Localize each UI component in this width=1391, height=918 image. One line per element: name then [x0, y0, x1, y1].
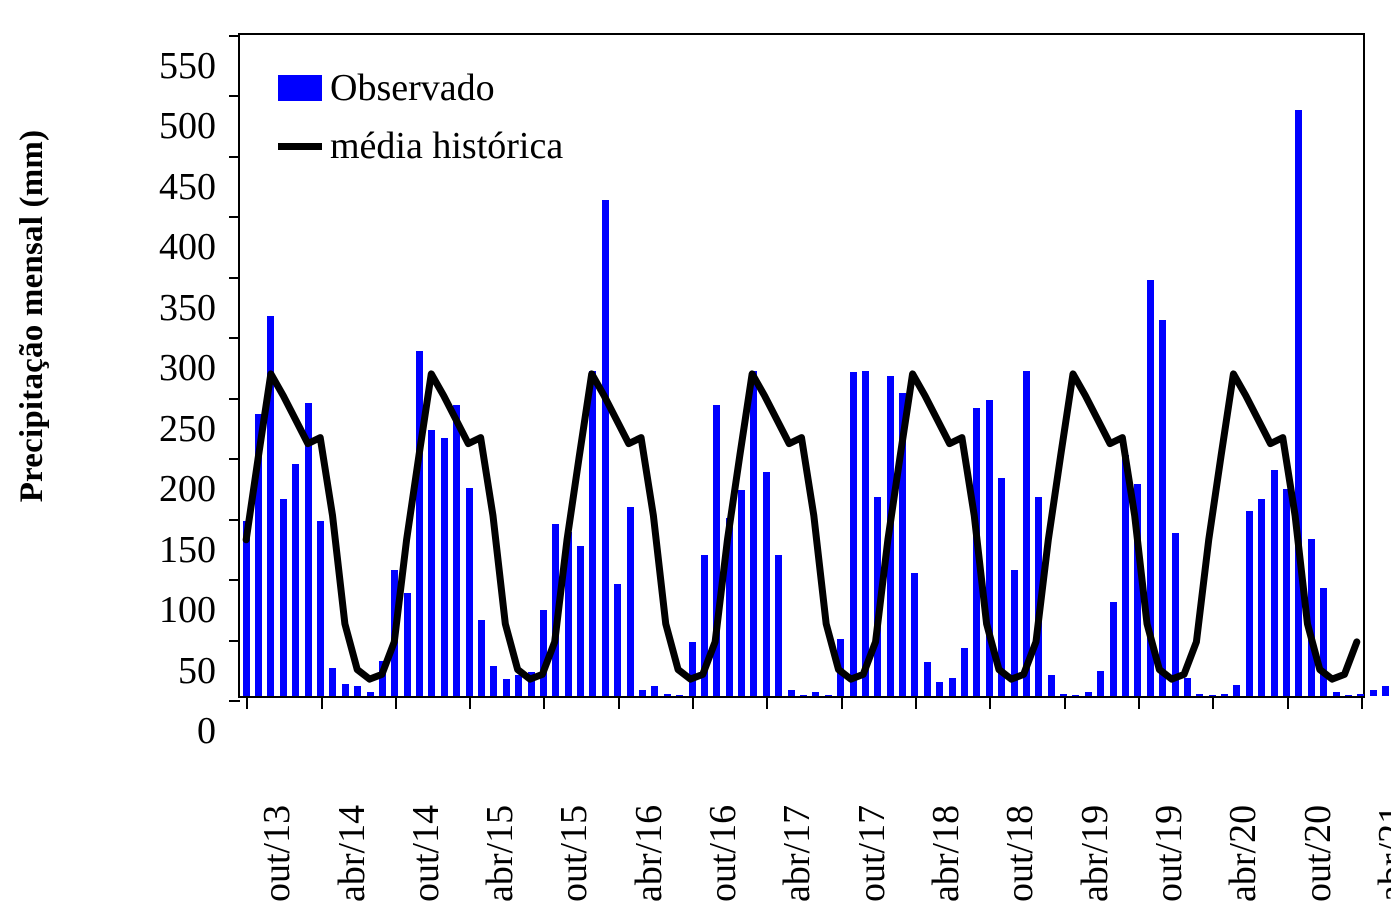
- x-axis-tick: [1064, 696, 1066, 709]
- bar: [317, 521, 324, 696]
- x-axis-tick-label: out/17: [853, 805, 891, 902]
- x-axis-tick-label: abr/21: [1373, 805, 1391, 902]
- bar: [490, 666, 497, 696]
- bar: [788, 690, 795, 696]
- bar: [1172, 533, 1179, 696]
- x-axis-tick: [1361, 696, 1363, 709]
- x-axis-tick: [469, 696, 471, 709]
- x-axis-tick-label: abr/14: [333, 805, 371, 902]
- y-axis-tick-label: 100: [159, 591, 216, 629]
- bar: [874, 497, 881, 697]
- bar: [664, 694, 671, 696]
- bar: [651, 686, 658, 696]
- bar: [478, 620, 485, 696]
- bar: [1271, 470, 1278, 696]
- y-axis-tick: [229, 95, 240, 97]
- bar: [1196, 694, 1203, 696]
- bar: [689, 642, 696, 696]
- x-axis-tick-label: abr/19: [1076, 805, 1114, 902]
- bar: [565, 532, 572, 696]
- bar: [986, 400, 993, 696]
- bar: [243, 521, 250, 696]
- bar: [416, 351, 423, 696]
- legend-label-observado: Observado: [330, 69, 495, 107]
- x-axis-tick: [321, 696, 323, 709]
- y-axis-tick-label: 450: [159, 168, 216, 206]
- bar: [305, 403, 312, 696]
- x-axis-tick-label: out/18: [1001, 805, 1039, 902]
- bar: [627, 507, 634, 696]
- bar: [1258, 499, 1265, 696]
- y-axis-tick: [229, 700, 240, 702]
- x-axis-tick: [1287, 696, 1289, 709]
- x-axis-tick-label: abr/15: [481, 805, 519, 902]
- bar: [602, 200, 609, 696]
- y-axis-tick: [229, 640, 240, 642]
- x-axis-tick: [618, 696, 620, 709]
- bar: [738, 490, 745, 696]
- x-axis-tick-label: out/16: [704, 805, 742, 902]
- bar: [1320, 588, 1327, 696]
- y-axis-tick-label: 300: [159, 349, 216, 387]
- bar: [639, 690, 646, 696]
- legend-item-media-historica: média histórica: [278, 117, 698, 175]
- bar: [404, 593, 411, 696]
- bar: [1048, 675, 1055, 696]
- precipitation-chart: Precipitação mensal (mm) 050100150200250…: [0, 0, 1391, 918]
- bar: [911, 573, 918, 696]
- x-axis-tick-label: out/15: [555, 805, 593, 902]
- bar: [1283, 489, 1290, 696]
- bar: [1134, 484, 1141, 696]
- y-axis-tick: [229, 35, 240, 37]
- bar: [1122, 455, 1129, 696]
- bar: [280, 499, 287, 696]
- bar: [949, 678, 956, 696]
- x-axis-tick-labels: out/13abr/14out/14abr/15out/15abr/16out/…: [238, 712, 1365, 918]
- y-axis-tick: [229, 337, 240, 339]
- x-axis-tick-label: abr/20: [1224, 805, 1262, 902]
- bar: [726, 518, 733, 696]
- bar: [1023, 371, 1030, 696]
- x-axis-tick: [989, 696, 991, 709]
- y-axis-tick: [229, 458, 240, 460]
- bar: [292, 464, 299, 696]
- bar: [713, 405, 720, 696]
- bar: [961, 648, 968, 696]
- y-axis-tick: [229, 519, 240, 521]
- bar: [255, 414, 262, 696]
- bar: [453, 405, 460, 696]
- bar: [1333, 692, 1340, 696]
- bar: [1233, 685, 1240, 696]
- x-axis-tick-label: out/19: [1150, 805, 1188, 902]
- bar: [775, 555, 782, 696]
- x-axis-tick: [915, 696, 917, 709]
- legend: Observado média histórica: [278, 59, 698, 175]
- x-axis-tick: [395, 696, 397, 709]
- x-axis-tick-label: out/14: [407, 805, 445, 902]
- bar: [1295, 110, 1302, 696]
- plot-area: Observado média histórica: [238, 33, 1365, 698]
- bar: [614, 584, 621, 696]
- bar: [1345, 695, 1352, 696]
- bar: [701, 555, 708, 696]
- bar: [1147, 280, 1154, 696]
- bar: [862, 371, 869, 696]
- bar: [1110, 602, 1117, 696]
- x-axis-tick-label: abr/17: [778, 805, 816, 902]
- x-axis-tick: [766, 696, 768, 709]
- bar: [515, 675, 522, 696]
- bar: [441, 438, 448, 696]
- y-axis-tick: [229, 156, 240, 158]
- y-axis-tick-label: 0: [197, 712, 216, 750]
- bar: [1097, 671, 1104, 696]
- x-axis-tick: [1138, 696, 1140, 709]
- bar: [763, 472, 770, 696]
- x-axis-tick-label: abr/16: [630, 805, 668, 902]
- bar: [342, 684, 349, 696]
- bar: [540, 610, 547, 696]
- bar: [924, 662, 931, 696]
- bar: [850, 372, 857, 696]
- bar: [391, 570, 398, 696]
- bar: [329, 668, 336, 696]
- y-axis-tick-label: 50: [178, 652, 216, 690]
- bar: [936, 682, 943, 697]
- legend-bar-swatch-icon: [278, 75, 322, 101]
- x-axis-tick: [1212, 696, 1214, 709]
- legend-item-observado: Observado: [278, 59, 698, 117]
- bar: [1159, 320, 1166, 696]
- bar: [466, 488, 473, 696]
- bar: [837, 639, 844, 696]
- bar: [887, 376, 894, 696]
- bar: [354, 686, 361, 696]
- bar: [1308, 539, 1315, 696]
- y-axis-tick-label: 250: [159, 410, 216, 448]
- bar: [379, 661, 386, 696]
- bar: [1011, 570, 1018, 696]
- bar: [267, 316, 274, 696]
- bar: [800, 695, 807, 696]
- x-axis-tick-label: out/13: [258, 805, 296, 902]
- bar: [1370, 690, 1377, 696]
- x-axis-tick: [543, 696, 545, 709]
- y-axis-tick: [229, 216, 240, 218]
- x-axis-tick: [692, 696, 694, 709]
- y-axis-tick: [229, 579, 240, 581]
- x-axis-tick-label: abr/18: [927, 805, 965, 902]
- bar: [1246, 511, 1253, 696]
- y-axis-tick: [229, 277, 240, 279]
- y-axis-tick-label: 550: [159, 47, 216, 85]
- bar: [1184, 678, 1191, 696]
- bar: [1035, 497, 1042, 697]
- bar: [899, 393, 906, 696]
- y-axis-tick-label: 500: [159, 107, 216, 145]
- bar: [812, 692, 819, 696]
- bar: [552, 524, 559, 696]
- x-axis-tick: [841, 696, 843, 709]
- bar: [528, 672, 535, 696]
- bar: [589, 371, 596, 696]
- bar: [503, 679, 510, 696]
- x-axis-tick: [246, 696, 248, 709]
- y-axis-tick: [229, 398, 240, 400]
- bar: [998, 478, 1005, 696]
- y-axis-tick-label: 350: [159, 289, 216, 327]
- bar: [1085, 692, 1092, 696]
- bar: [577, 546, 584, 696]
- bar: [1221, 694, 1228, 696]
- x-axis-tick-label: out/20: [1299, 805, 1337, 902]
- bar: [973, 408, 980, 696]
- legend-line-swatch-icon: [278, 143, 322, 150]
- bar: [1072, 695, 1079, 696]
- bar: [367, 692, 374, 696]
- bar: [750, 371, 757, 696]
- y-axis-tick-label: 200: [159, 470, 216, 508]
- legend-label-media-historica: média histórica: [330, 127, 563, 165]
- y-axis-tick-label: 400: [159, 228, 216, 266]
- y-axis-tick-labels: 050100150200250300350400450500550: [0, 33, 238, 698]
- bar: [1382, 686, 1389, 696]
- bar: [676, 695, 683, 696]
- bar: [428, 430, 435, 696]
- y-axis-tick-label: 150: [159, 531, 216, 569]
- bar: [825, 695, 832, 696]
